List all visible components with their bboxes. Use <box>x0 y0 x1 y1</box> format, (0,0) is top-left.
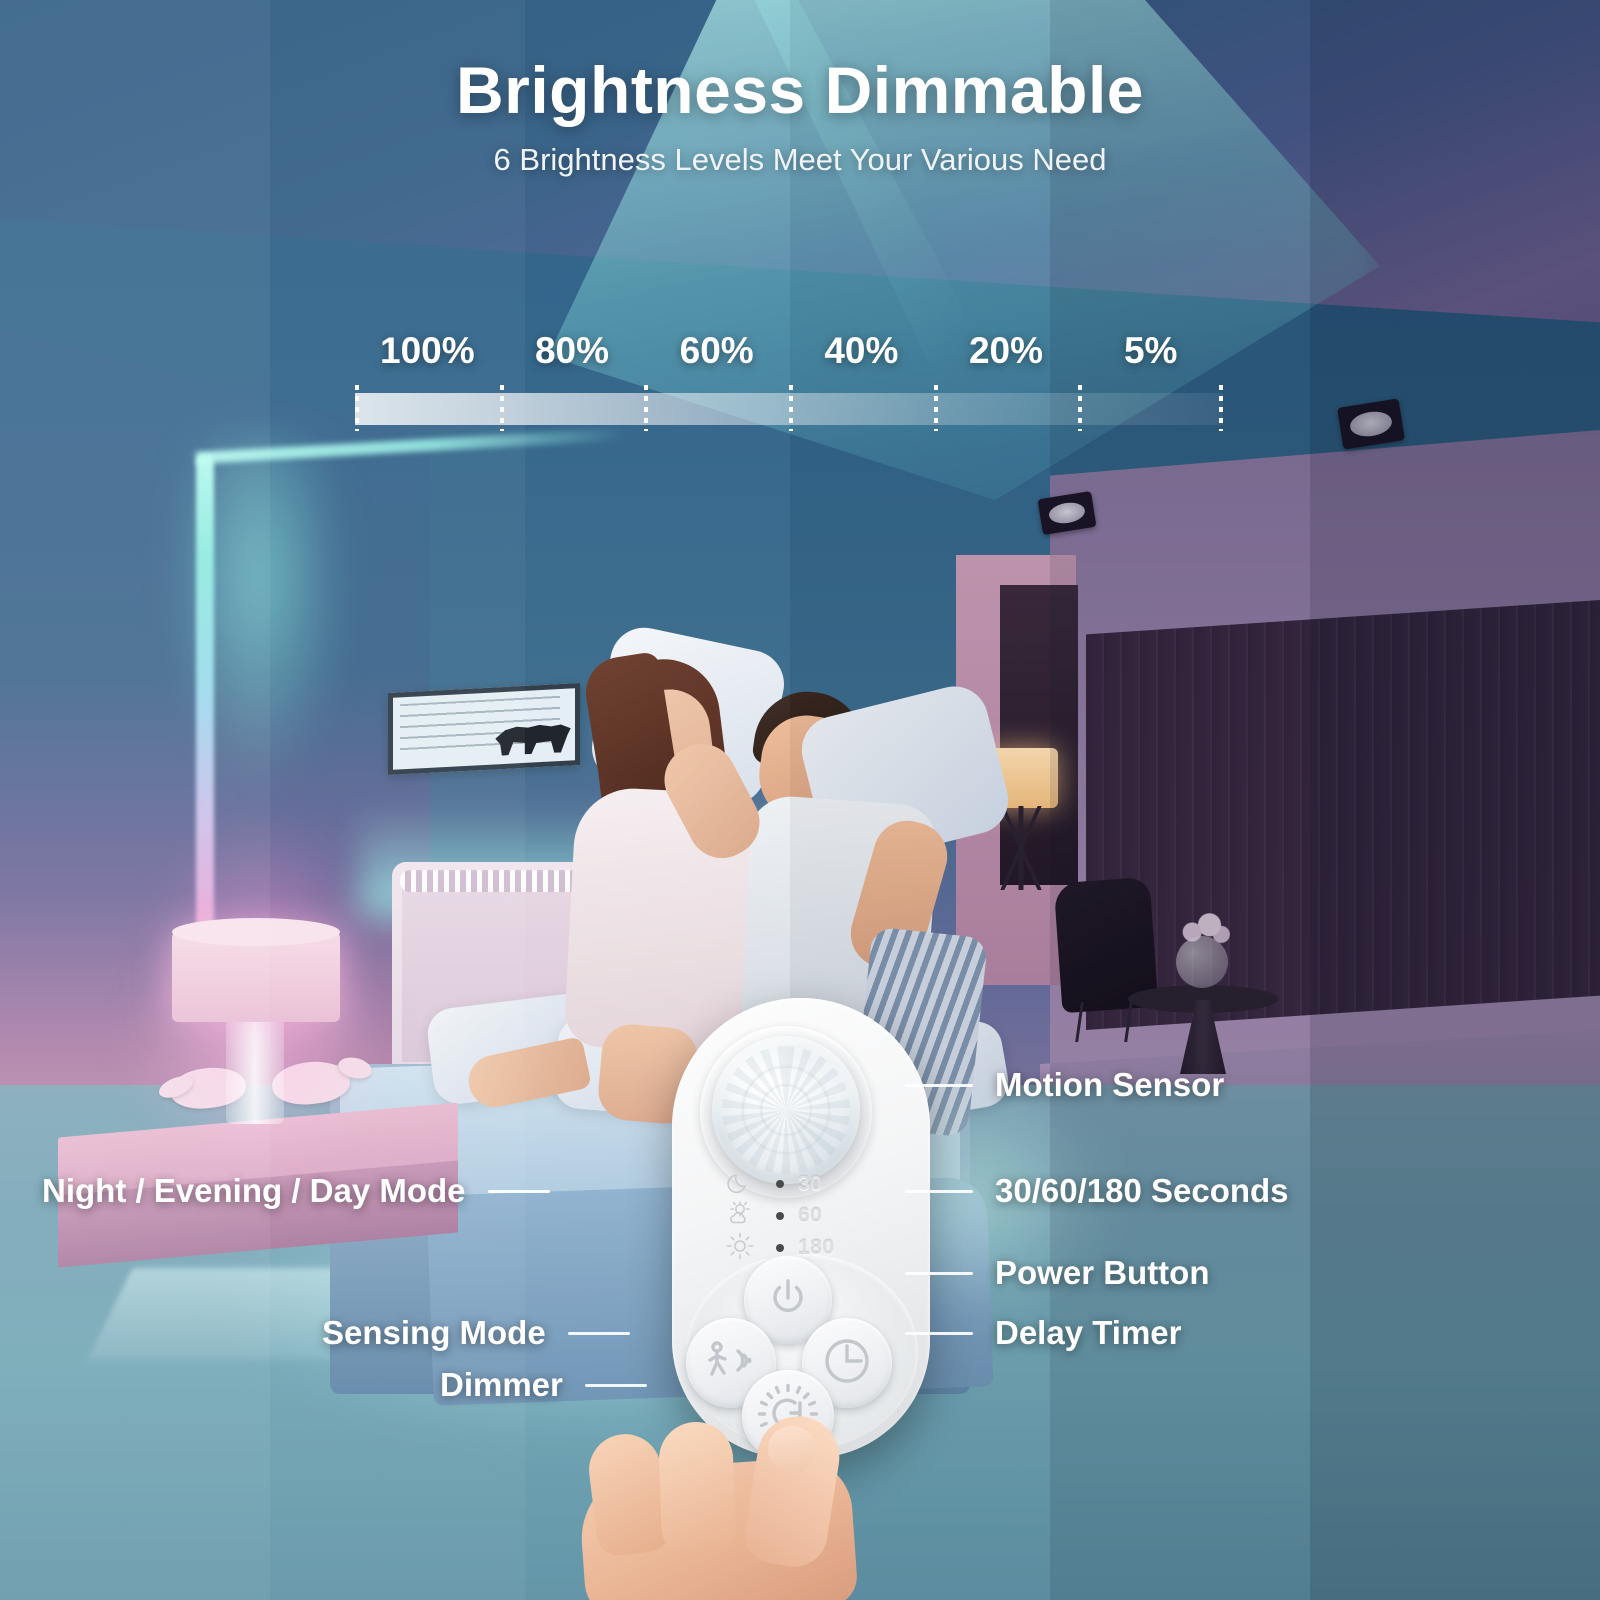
callout-power-button: Power Button <box>905 1254 1209 1292</box>
callout-mode: Night / Evening / Day Mode <box>42 1172 550 1210</box>
scale-tick-5 <box>1078 385 1082 431</box>
brightness-level-60: 60% <box>644 330 789 372</box>
brightness-bar-wrapper <box>355 385 1223 431</box>
page-subtitle: 6 Brightness Levels Meet Your Various Ne… <box>0 142 1600 178</box>
leader-line <box>905 1190 973 1193</box>
leader-line <box>488 1190 550 1193</box>
index-finger <box>585 1430 671 1558</box>
leader-line <box>585 1384 647 1387</box>
dim-band-0 <box>0 0 270 1600</box>
callout-label-dimmer: Dimmer <box>440 1366 563 1404</box>
callout-seconds: 30/60/180 Seconds <box>905 1172 1289 1210</box>
power-icon <box>764 1274 812 1327</box>
scale-tick-2 <box>644 385 648 431</box>
dim-band-4 <box>1050 0 1310 1600</box>
leader-line <box>568 1332 630 1335</box>
callout-motion-sensor: Motion Sensor <box>905 1066 1224 1104</box>
mode-indicator-rows: 30 60 <box>718 1168 868 1264</box>
indicator-led-evening <box>762 1207 798 1225</box>
scale-tick-1 <box>500 385 504 431</box>
leader-line <box>905 1332 973 1335</box>
page-title: Brightness Dimmable <box>0 56 1600 126</box>
hand-holding-remote <box>556 1412 926 1600</box>
callout-label-delay-timer: Delay Timer <box>995 1314 1182 1352</box>
moon-icon <box>718 1169 762 1200</box>
clock-icon <box>821 1335 873 1392</box>
scale-tick-3 <box>789 385 793 431</box>
leader-line <box>905 1272 973 1275</box>
callout-delay-timer: Delay Timer <box>905 1314 1182 1352</box>
leader-line <box>905 1084 973 1087</box>
callout-label-seconds: 30/60/180 Seconds <box>995 1172 1289 1210</box>
callout-label-power-button: Power Button <box>995 1254 1209 1292</box>
header: Brightness Dimmable 6 Brightness Levels … <box>0 56 1600 178</box>
sun-cloud-icon <box>718 1201 762 1232</box>
brightness-level-20: 20% <box>934 330 1079 372</box>
motion-waves-icon <box>702 1338 760 1389</box>
indicator-led-night <box>762 1175 798 1193</box>
indicator-seconds-30: 30 <box>798 1172 860 1196</box>
brightness-scale: 100%80%60%40%20%5% <box>355 330 1223 431</box>
product-feature-image: Brightness Dimmable 6 Brightness Levels … <box>0 0 1600 1600</box>
brightness-level-labels: 100%80%60%40%20%5% <box>355 330 1223 372</box>
callout-label-motion-sensor: Motion Sensor <box>995 1066 1224 1104</box>
sun-icon <box>718 1232 762 1265</box>
brightness-level-40: 40% <box>789 330 934 372</box>
scale-tick-6 <box>1219 385 1223 431</box>
indicator-row-evening: 60 <box>718 1200 868 1232</box>
brightness-level-100: 100% <box>355 330 500 372</box>
brightness-level-80: 80% <box>500 330 645 372</box>
callout-label-sensing-mode: Sensing Mode <box>322 1314 546 1352</box>
callout-dimmer: Dimmer <box>440 1366 647 1404</box>
callout-label-mode: Night / Evening / Day Mode <box>42 1172 466 1210</box>
motion-sensor-fresnel-facets <box>722 1046 850 1174</box>
dim-band-1 <box>270 0 525 1600</box>
callout-sensing-mode: Sensing Mode <box>322 1314 630 1352</box>
dim-band-5 <box>1310 0 1600 1600</box>
indicator-row-night: 30 <box>718 1168 868 1200</box>
middle-finger <box>658 1421 736 1552</box>
scale-tick-4 <box>934 385 938 431</box>
scale-tick-0 <box>355 385 359 431</box>
brightness-level-5: 5% <box>1078 330 1223 372</box>
indicator-seconds-60: 60 <box>798 1204 860 1228</box>
